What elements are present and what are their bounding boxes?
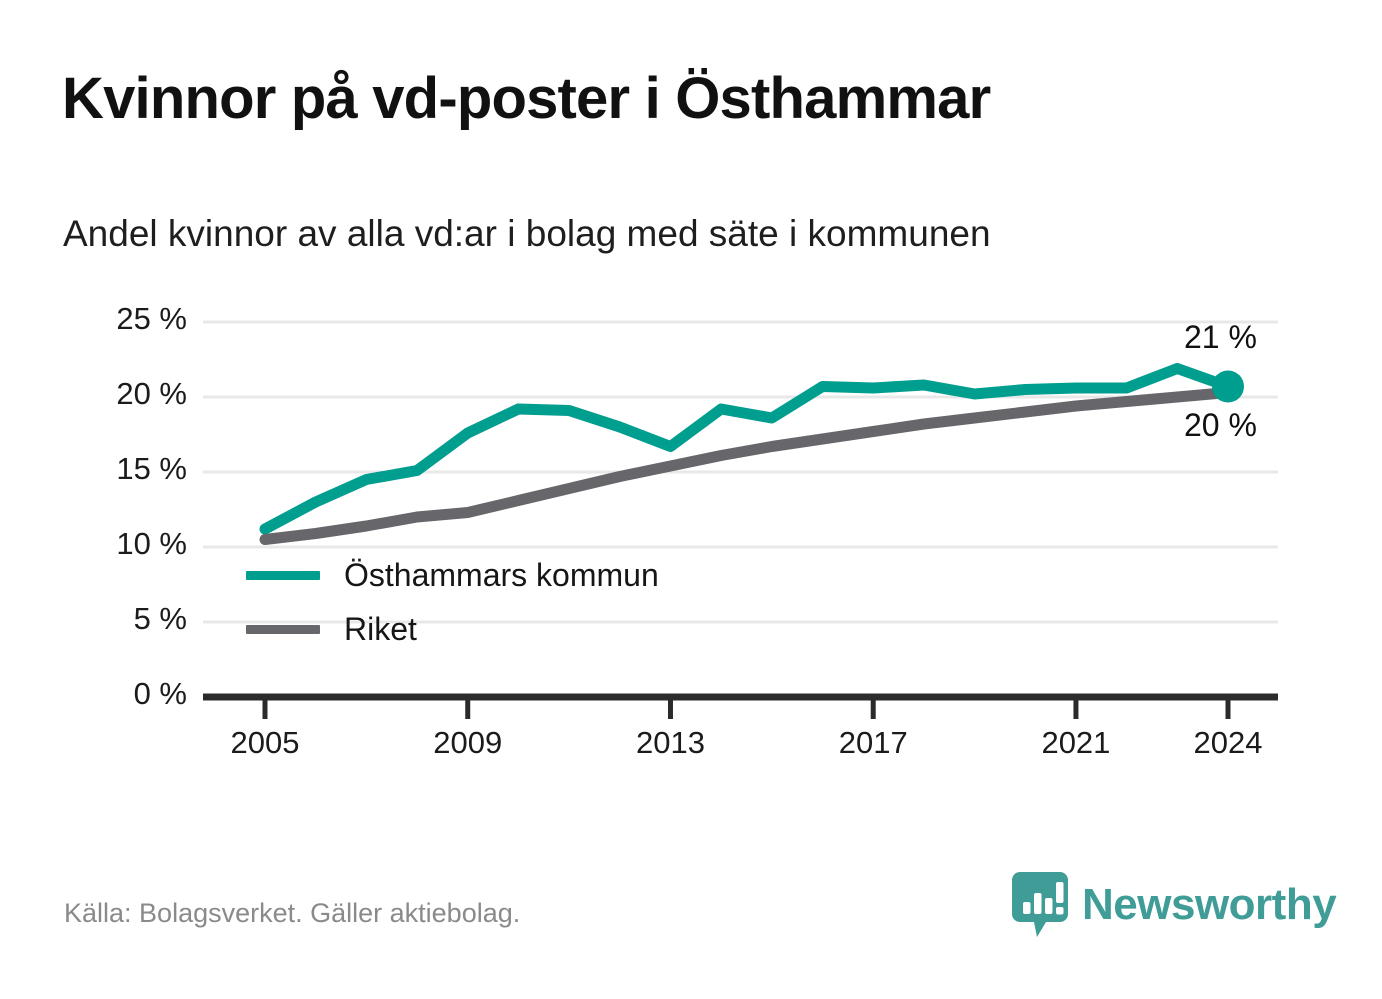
value-callout-secondary: 20 % [1184,407,1257,444]
series-endpoint-marker-primary [1212,371,1244,403]
y-tick-label-20: 20 % [57,376,187,412]
page-subtitle: Andel kvinnor av alla vd:ar i bolag med … [63,214,991,255]
x-tick-label-2017: 2017 [803,725,943,761]
speech-bubble-bar-chart-icon [1012,872,1068,938]
x-tick-label-2013: 2013 [600,725,740,761]
y-tick-label-10: 10 % [57,526,187,562]
x-tick-label-2024: 2024 [1158,725,1298,761]
series-line-primary [265,369,1228,530]
source-note: Källa: Bolagsverket. Gäller aktiebolag. [64,898,520,929]
line-chart-svg [0,0,1382,999]
legend-swatch-icon-secondary [246,625,320,634]
legend-swatch-icon-primary [246,571,320,580]
y-tick-label-25: 25 % [57,301,187,337]
legend-item-primary[interactable]: Östhammars kommun [246,548,659,602]
x-tick-label-2009: 2009 [398,725,538,761]
logo-wordmark: Newsworthy [1082,883,1336,927]
page-title: Kvinnor på vd-poster i Östhammar [62,68,990,129]
y-tick-label-5: 5 % [57,601,187,637]
newsworthy-logo[interactable]: Newsworthy [1012,872,1336,938]
y-tick-label-0: 0 % [57,676,187,712]
chart-legend: Östhammars kommun Riket [246,548,659,656]
y-tick-label-15: 15 % [57,451,187,487]
chart-page: Kvinnor på vd-poster i Östhammar Andel k… [0,0,1382,999]
value-callout-primary: 21 % [1184,319,1257,356]
x-tick-label-2021: 2021 [1006,725,1146,761]
legend-item-secondary[interactable]: Riket [246,602,659,656]
legend-label-primary: Östhammars kommun [344,559,659,591]
chart-plot-area [0,0,1382,999]
x-tick-label-2005: 2005 [195,725,335,761]
legend-label-secondary: Riket [344,613,417,645]
series-line-secondary [265,393,1228,540]
